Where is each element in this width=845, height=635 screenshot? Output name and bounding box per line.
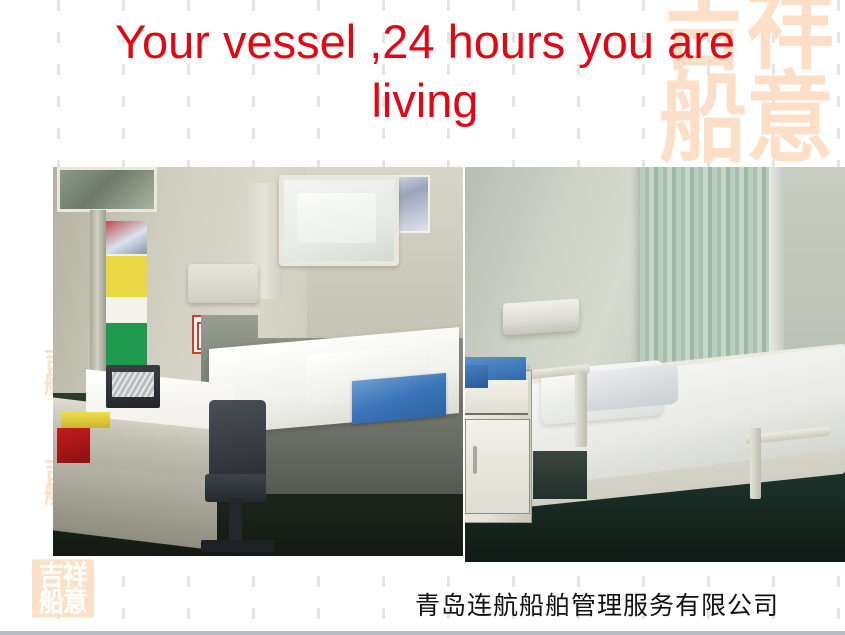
office-chair-back (209, 400, 266, 478)
notice-yellow (106, 256, 147, 297)
printer-panel (112, 372, 155, 397)
bed2-under-shadow (533, 451, 586, 498)
desk-printer (106, 365, 159, 408)
wall-poster-top-left (57, 167, 157, 212)
slide-title: Your vessel ,24 hours you are living (55, 12, 795, 130)
cabin-window (279, 175, 400, 267)
desk-red-item (57, 428, 90, 463)
cabinet-door (465, 419, 530, 514)
slide-canvas: 吉祥 船意 吉 船 吉 船 吉祥 船意 Your vessel ,24 hour… (0, 0, 845, 635)
company-name: 青岛连航船舶管理服务有限公司 (415, 586, 779, 622)
office-chair-base (201, 540, 275, 552)
blue-folded-item-edge (465, 365, 488, 389)
notice-photo (106, 221, 147, 254)
bed2-side-rail-post (750, 428, 761, 499)
bottom-divider-bar (0, 631, 845, 635)
photo-left-scene (53, 167, 463, 556)
watermark-seal-left-3: 吉祥 船意 (32, 559, 94, 617)
wall-reading-lamp (503, 299, 579, 336)
bed2-head-rail-post-2 (575, 372, 586, 447)
cabin-bed-curtain-photo (465, 167, 845, 562)
window-glass (297, 193, 377, 244)
bedside-cabinet (465, 370, 532, 522)
cabin-desk-bed-photo (53, 167, 463, 556)
wall-vent-lamp (188, 264, 258, 303)
desk-yellow-item (61, 412, 110, 428)
cabinet-handle (473, 446, 476, 474)
photo-right-scene (465, 167, 845, 562)
blue-folded-blanket (352, 373, 446, 424)
wall-notice-strip (106, 221, 147, 384)
notice-white (106, 298, 147, 321)
